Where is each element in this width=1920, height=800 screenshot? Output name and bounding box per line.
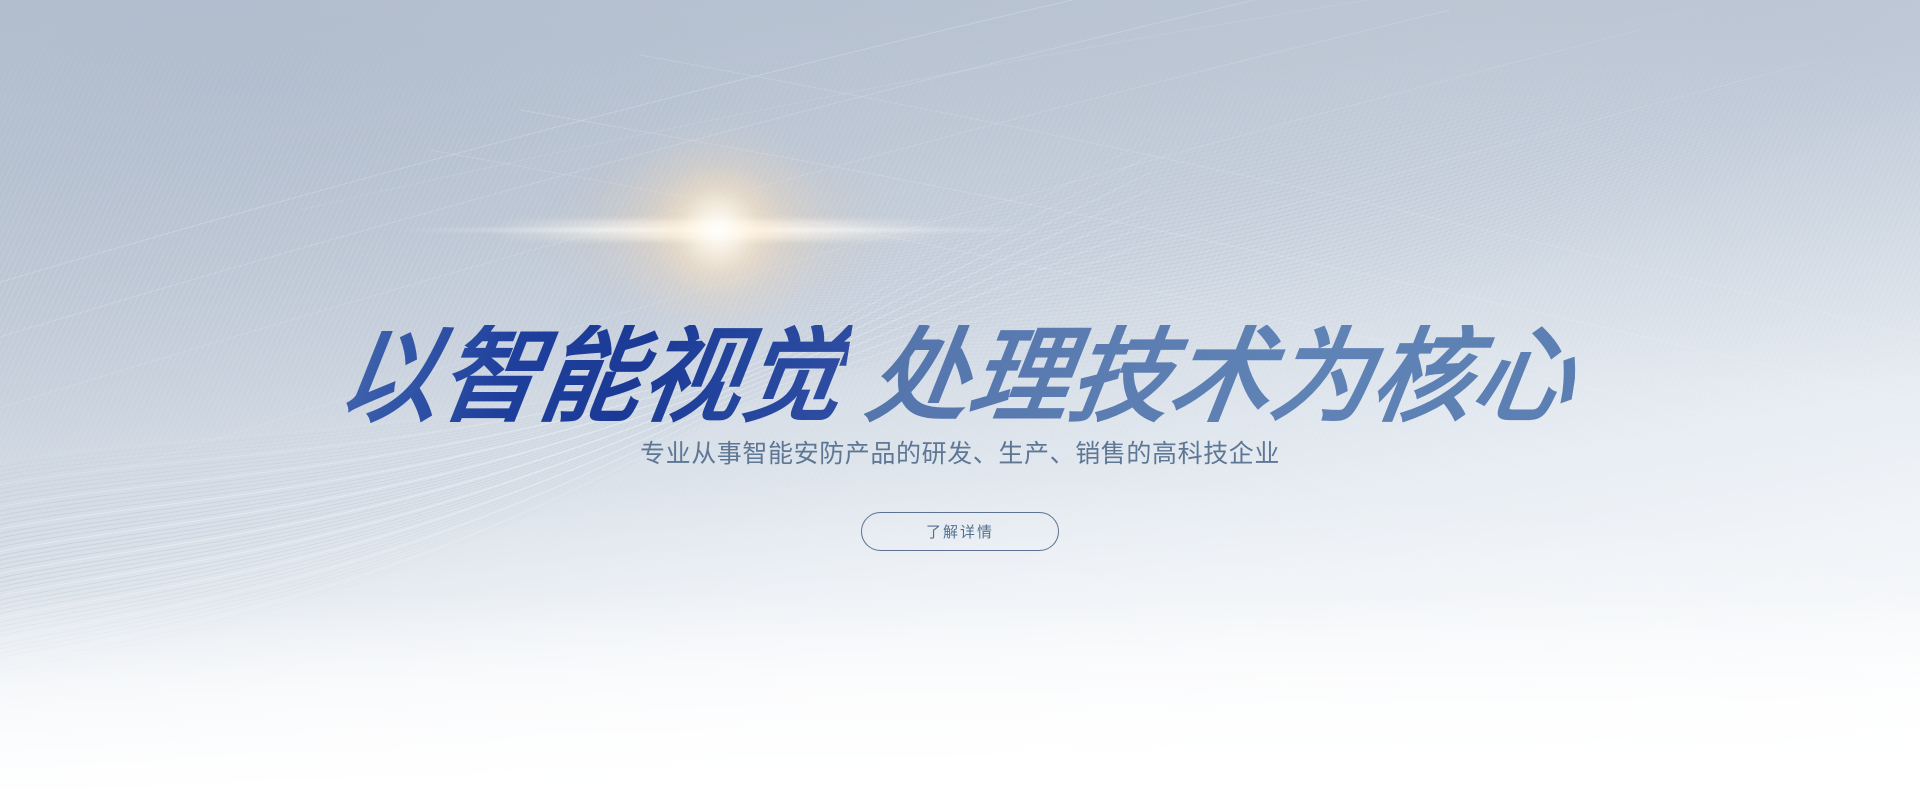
flare-warm-glow xyxy=(548,145,888,315)
headline-segment-primary: 以智能视觉 xyxy=(332,325,852,429)
hero-subtitle: 专业从事智能安防产品的研发、生产、销售的高科技企业 xyxy=(640,434,1280,470)
page-title: 以智能视觉处理技术为核心 xyxy=(330,325,1590,429)
hero-banner: 以智能视觉处理技术为核心 专业从事智能安防产品的研发、生产、销售的高科技企业 了… xyxy=(0,0,1920,800)
flare-horizontal-streak xyxy=(488,220,948,240)
flare-thin-streak xyxy=(388,228,1048,232)
learn-more-button[interactable]: 了解详情 xyxy=(861,512,1059,551)
flare-core xyxy=(598,110,838,350)
headline-segment-secondary: 处理技术为核心 xyxy=(861,325,1583,429)
hero-content: 以智能视觉处理技术为核心 专业从事智能安防产品的研发、生产、销售的高科技企业 了… xyxy=(0,0,1920,800)
bottom-white-fade xyxy=(0,590,1920,800)
